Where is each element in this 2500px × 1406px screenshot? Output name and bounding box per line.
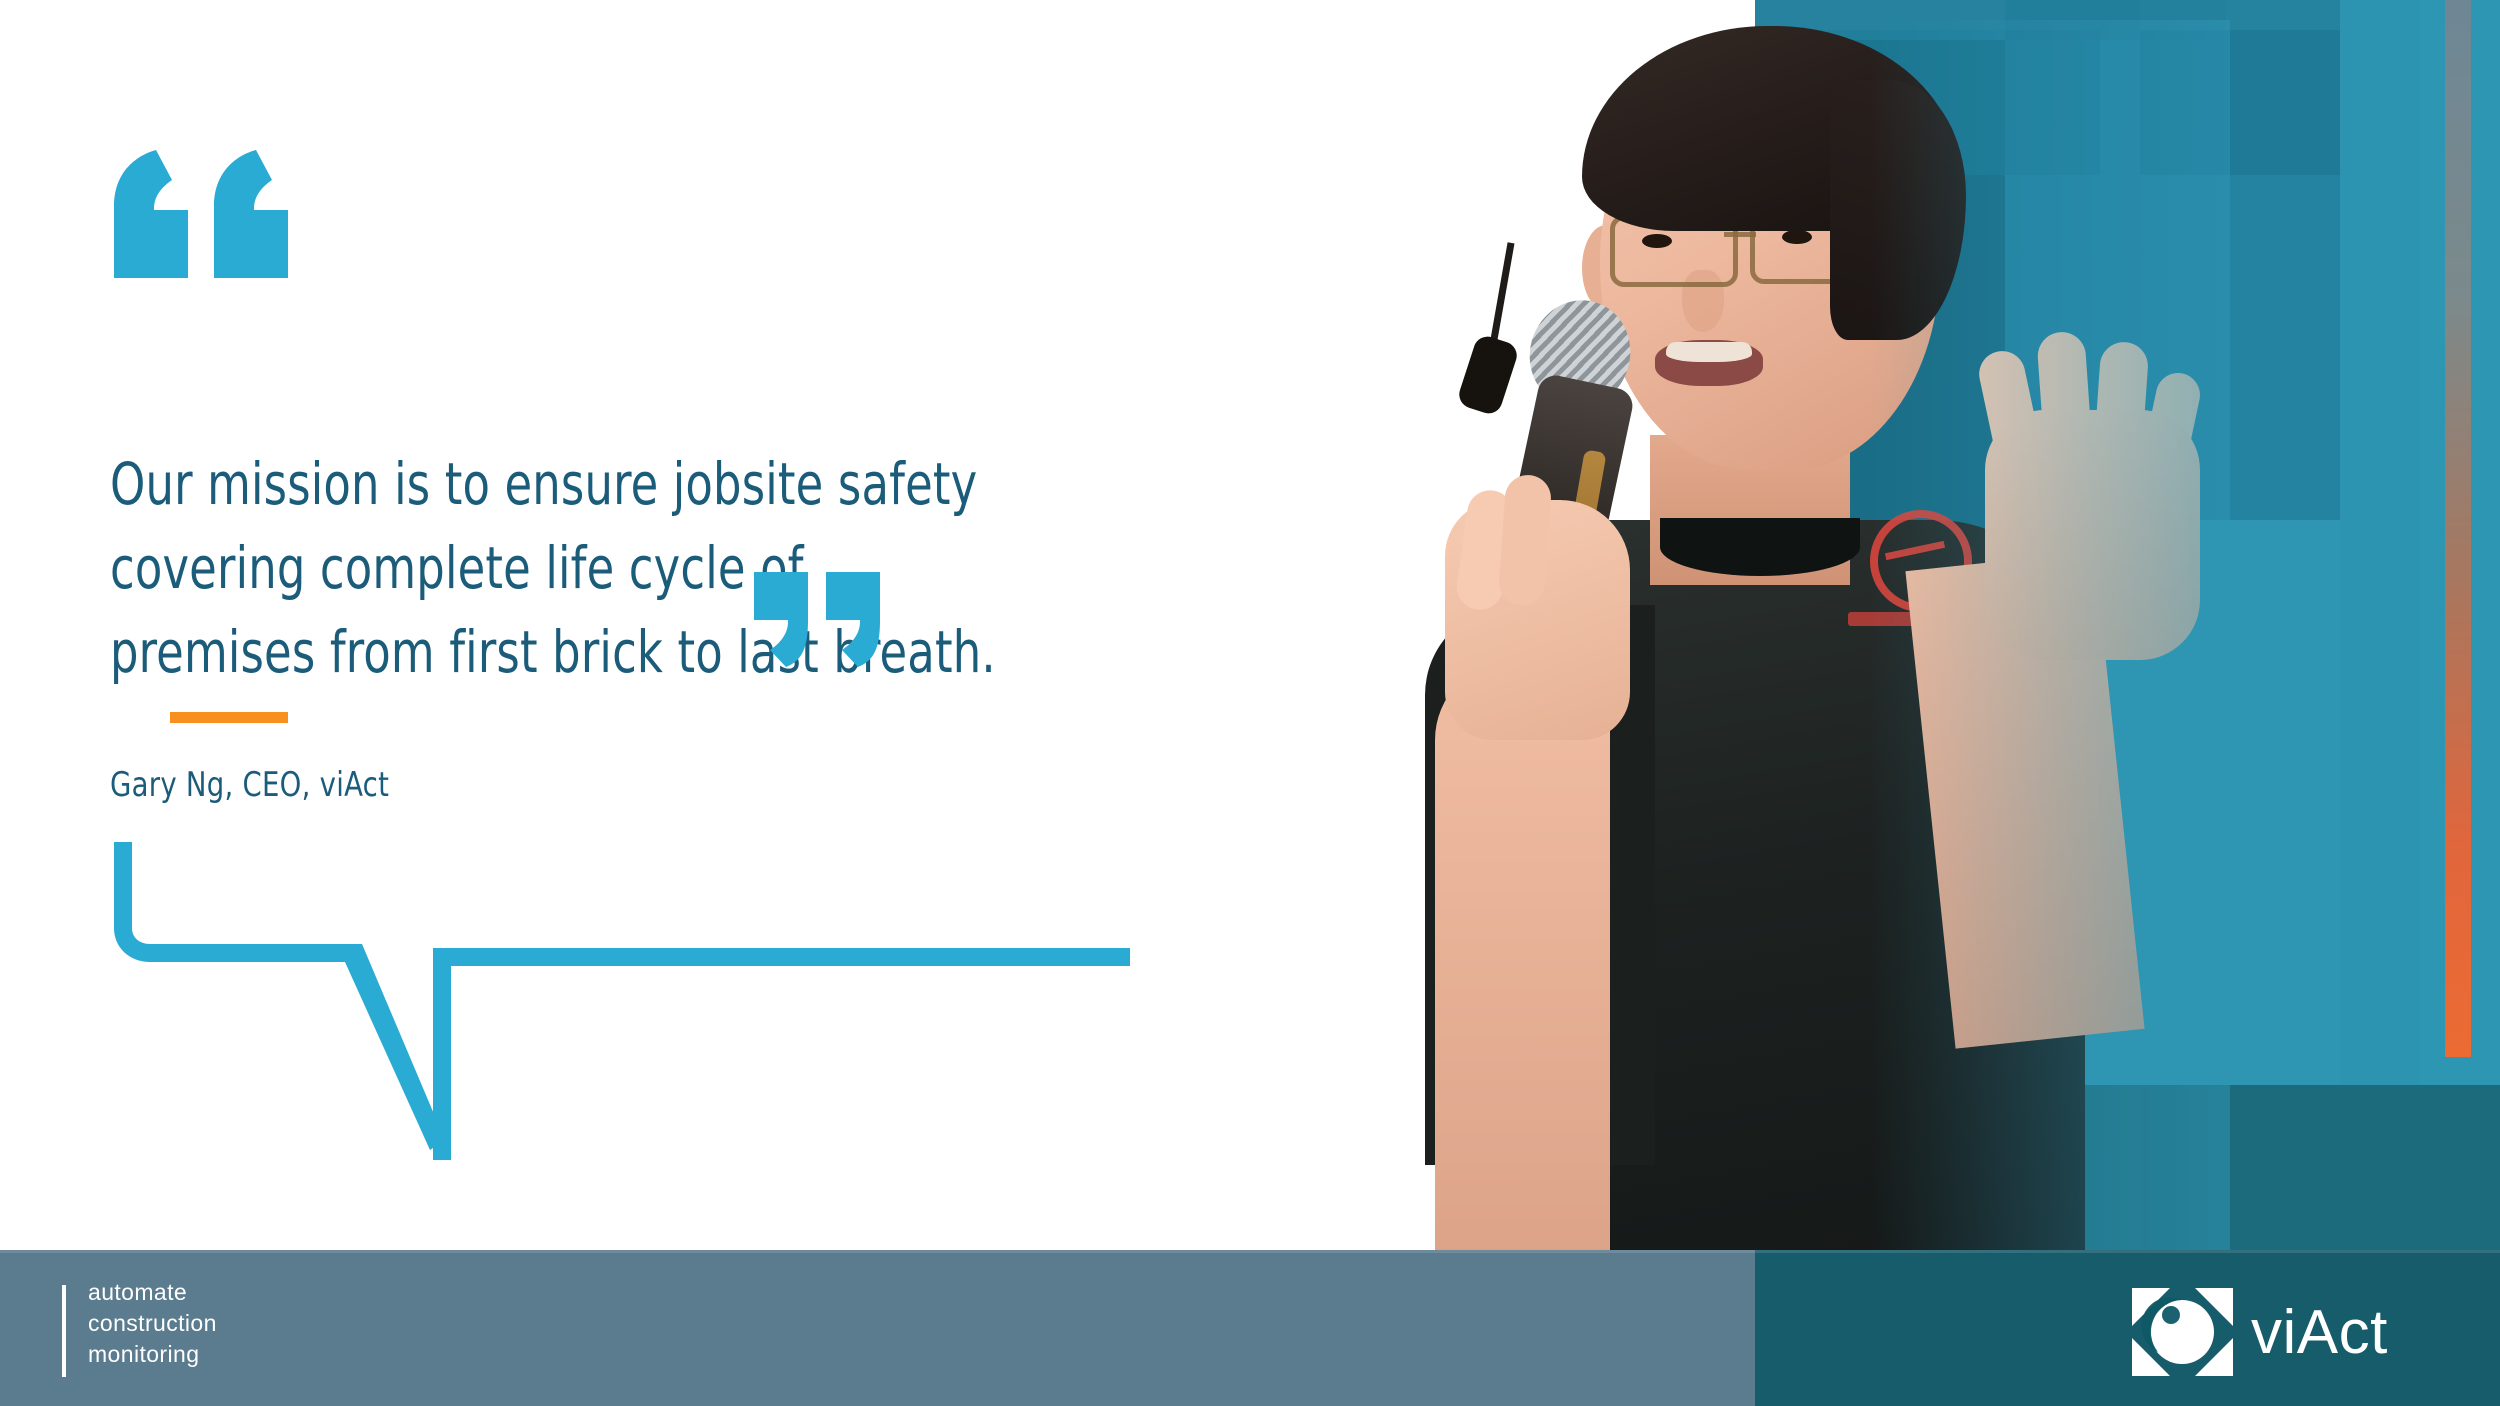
tagline-vertical-rule <box>62 1285 66 1377</box>
quote-line-1: Our mission is to ensure jobsite safety <box>110 455 996 513</box>
tagline-line-3: monitoring <box>88 1339 217 1370</box>
glasses-bridge <box>1724 232 1756 237</box>
speaker-left-finger-2 <box>1498 474 1553 607</box>
photo-background-blend <box>1870 20 2230 1360</box>
microphone-antenna <box>1489 242 1515 352</box>
orange-divider-rule <box>170 712 288 723</box>
tagline-line-1: automate <box>88 1277 217 1308</box>
microphone-clip <box>1456 333 1521 417</box>
slide-canvas: Our mission is to ensure jobsite safety … <box>0 0 2500 1406</box>
speaker-photo <box>1230 20 2230 1360</box>
viact-wordmark: viAct <box>2251 1297 2388 1368</box>
speech-bubble-outline <box>100 820 1300 1170</box>
footer-top-hairline <box>0 1250 2500 1253</box>
speaker-collar <box>1660 518 1860 576</box>
tagline-line-2: construction <box>88 1308 217 1339</box>
viact-eye-logo-icon <box>2130 1286 2235 1378</box>
footer-tagline: automate construction monitoring <box>88 1277 217 1370</box>
quote-attribution: Gary Ng, CEO, viAct <box>110 765 389 805</box>
speaker-teeth <box>1666 342 1752 362</box>
closing-quote-mark-icon <box>752 572 882 667</box>
orange-gradient-accent-stripe <box>2445 0 2471 1057</box>
opening-quote-mark-icon <box>110 150 300 280</box>
viact-logo[interactable]: viAct <box>2130 1282 2460 1382</box>
quote-text-block: Our mission is to ensure jobsite safety … <box>110 455 1140 681</box>
